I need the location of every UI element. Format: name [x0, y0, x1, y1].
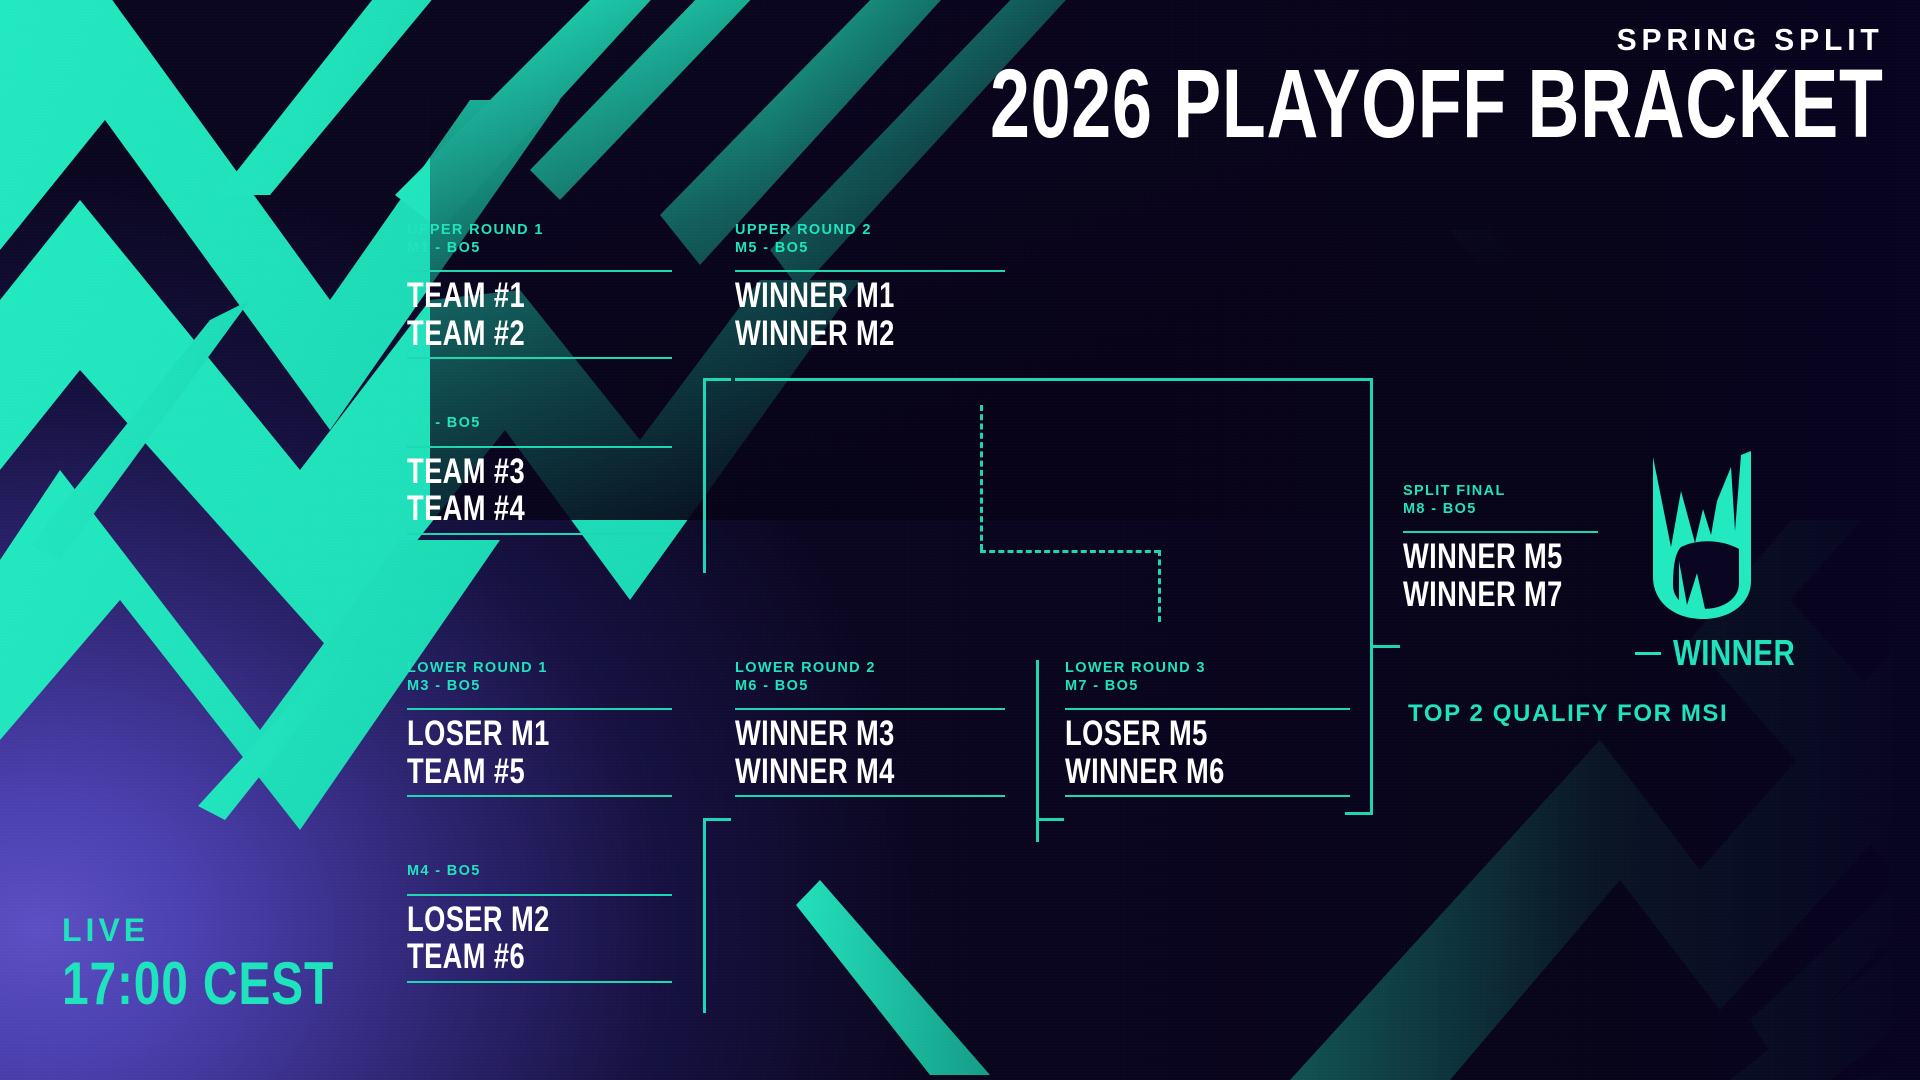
team-slot-2[interactable]: WINNER M6 [1065, 753, 1287, 790]
match-code-label: M5 - BO5 [735, 240, 1005, 258]
qualify-note: TOP 2 QUALIFY FOR MSI [1408, 700, 1728, 728]
match-round-label: SPLIT FINAL [1403, 483, 1598, 501]
match-card-m8-split-final[interactable]: SPLIT FINAL M8 - BO5 WINNER M5 WINNER M7 [1403, 483, 1598, 618]
team-slot-2[interactable]: TEAM #2 [407, 315, 614, 352]
match-teams: TEAM #3 TEAM #4 [407, 448, 672, 533]
match-teams: TEAM #1 TEAM #2 [407, 272, 672, 357]
page-title: 2026 PLAYOFF BRACKET [990, 62, 1884, 145]
connector-lower-r1-stub [703, 818, 731, 821]
match-code-label: M8 - BO5 [1403, 501, 1598, 519]
connector-m7-to-final-vertical [1370, 648, 1373, 815]
match-teams: LOSER M1 TEAM #5 [407, 710, 672, 795]
team-slot-1[interactable]: LOSER M2 [407, 901, 614, 938]
match-teams: WINNER M5 WINNER M7 [1403, 533, 1598, 618]
header: SPRING SPLIT 2026 PLAYOFF BRACKET [676, 24, 1884, 145]
match-code-label: M1 - BO5 [407, 240, 672, 258]
winner-dash [1635, 652, 1661, 655]
match-code-label: M4 - BO5 [407, 863, 672, 881]
match-card-m6[interactable]: LOWER ROUND 2 M6 - BO5 WINNER M3 WINNER … [735, 660, 1005, 797]
connector-upper-r1-vertical [703, 378, 706, 573]
match-code-label: M3 - BO5 [407, 678, 672, 696]
live-block: LIVE 17:00 CEST [62, 914, 402, 1012]
connector-loser-m5-dashed-vertical-b [1158, 550, 1161, 622]
match-teams: WINNER M3 WINNER M4 [735, 710, 1005, 795]
match-card-m4[interactable]: M4 - BO5 LOSER M2 TEAM #6 [407, 863, 672, 983]
team-slot-1[interactable]: LOSER M1 [407, 715, 614, 752]
connector-m5-to-final-vertical [1370, 378, 1373, 648]
connector-loser-m5-dashed-vertical-a [980, 405, 983, 550]
match-card-m2[interactable]: M2 - BO5 TEAM #3 TEAM #4 [407, 415, 672, 535]
match-rule-bottom [735, 795, 1005, 797]
winner-label-row: WINNER [1635, 635, 1822, 671]
team-slot-2[interactable]: WINNER M2 [735, 315, 946, 352]
match-code-label: M6 - BO5 [735, 678, 1005, 696]
match-round-label: UPPER ROUND 1 [407, 222, 672, 240]
connector-m7-to-final-horizontal [1345, 812, 1373, 815]
match-rule-bottom [1065, 795, 1350, 797]
team-slot-1[interactable]: WINNER M5 [1403, 538, 1555, 575]
team-slot-2[interactable]: WINNER M4 [735, 753, 946, 790]
team-slot-2[interactable]: TEAM #5 [407, 753, 614, 790]
match-rule-bottom [407, 981, 672, 983]
match-round-label: LOWER ROUND 1 [407, 660, 672, 678]
match-card-m5[interactable]: UPPER ROUND 2 M5 - BO5 WINNER M1 WINNER … [735, 222, 1005, 357]
connector-m6-to-m7-vertical [1036, 660, 1039, 842]
crown-logo-icon [1635, 443, 1785, 633]
winner-label: WINNER [1673, 635, 1795, 671]
zigzag-right [1290, 230, 1920, 1080]
match-teams: LOSER M2 TEAM #6 [407, 896, 672, 981]
match-code-label: M7 - BO5 [1065, 678, 1350, 696]
connector-lower-r1-vertical [703, 818, 706, 1013]
live-time: 17:00 CEST [62, 955, 334, 1012]
connector-loser-m5-dashed-horizontal [980, 550, 1160, 553]
match-rule-bottom [407, 533, 672, 535]
match-code-label: M2 - BO5 [407, 415, 672, 433]
match-card-m3[interactable]: LOWER ROUND 1 M3 - BO5 LOSER M1 TEAM #5 [407, 660, 672, 797]
team-slot-1[interactable]: WINNER M3 [735, 715, 946, 752]
team-slot-1[interactable]: TEAM #1 [407, 277, 614, 314]
match-card-m7[interactable]: LOWER ROUND 3 M7 - BO5 LOSER M5 WINNER M… [1065, 660, 1350, 797]
connector-final-left-stub [1370, 645, 1400, 648]
match-round-label: LOWER ROUND 3 [1065, 660, 1350, 678]
connector-upper-r1-stub [703, 378, 731, 381]
match-teams: WINNER M1 WINNER M2 [735, 272, 1005, 357]
team-slot-2[interactable]: WINNER M7 [1403, 576, 1555, 613]
team-slot-1[interactable]: WINNER M1 [735, 277, 946, 314]
match-round-label: LOWER ROUND 2 [735, 660, 1005, 678]
match-round-label: UPPER ROUND 2 [735, 222, 1005, 240]
match-rule-bottom [407, 357, 672, 359]
connector-m5-to-final-horizontal [735, 378, 1373, 381]
winner-block: WINNER [1635, 443, 1822, 671]
live-label: LIVE [62, 914, 402, 946]
connector-m6-to-m7-stub [1036, 818, 1064, 821]
team-slot-2[interactable]: TEAM #6 [407, 938, 614, 975]
match-rule-bottom [407, 795, 672, 797]
team-slot-1[interactable]: LOSER M5 [1065, 715, 1287, 752]
bracket-screen: SPRING SPLIT 2026 PLAYOFF BRACKET UPPER … [0, 0, 1920, 1080]
match-teams: LOSER M5 WINNER M6 [1065, 710, 1350, 795]
match-card-m1[interactable]: UPPER ROUND 1 M1 - BO5 TEAM #1 TEAM #2 [407, 222, 672, 359]
team-slot-2[interactable]: TEAM #4 [407, 490, 614, 527]
team-slot-1[interactable]: TEAM #3 [407, 453, 614, 490]
